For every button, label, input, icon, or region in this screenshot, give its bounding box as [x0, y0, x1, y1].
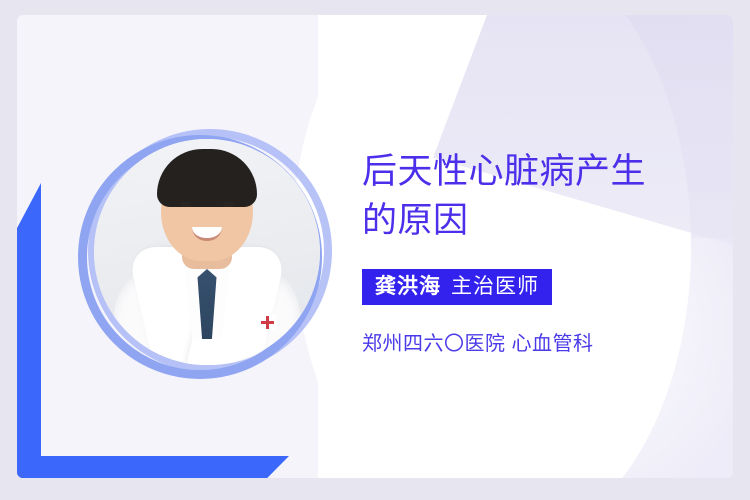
doctor-job-title: 主治医师	[451, 275, 539, 298]
doctor-name-badge: 龚洪海主治医师	[362, 269, 552, 305]
page-title: 后天性心脏病产生 的原因	[362, 147, 722, 245]
doctor-profile-banner: 后天性心脏病产生 的原因 龚洪海主治医师 郑州四六〇医院 心血管科	[0, 0, 750, 500]
doctor-name: 龚洪海	[375, 275, 441, 298]
medical-cross-icon	[259, 314, 276, 331]
doctor-affiliation: 郑州四六〇医院 心血管科	[362, 327, 722, 356]
doctor-portrait	[78, 129, 332, 387]
doctor-eye-right	[223, 202, 234, 207]
doctor-eye-left	[180, 202, 191, 207]
content-card: 后天性心脏病产生 的原因 龚洪海主治医师 郑州四六〇医院 心血管科	[17, 15, 733, 478]
doctor-badge-row: 龚洪海主治医师	[362, 269, 722, 305]
left-accent-bar	[17, 183, 41, 478]
portrait-photo	[94, 139, 320, 365]
bottom-accent-bar	[17, 456, 289, 478]
text-column: 后天性心脏病产生 的原因 龚洪海主治医师 郑州四六〇医院 心血管科	[362, 147, 722, 356]
